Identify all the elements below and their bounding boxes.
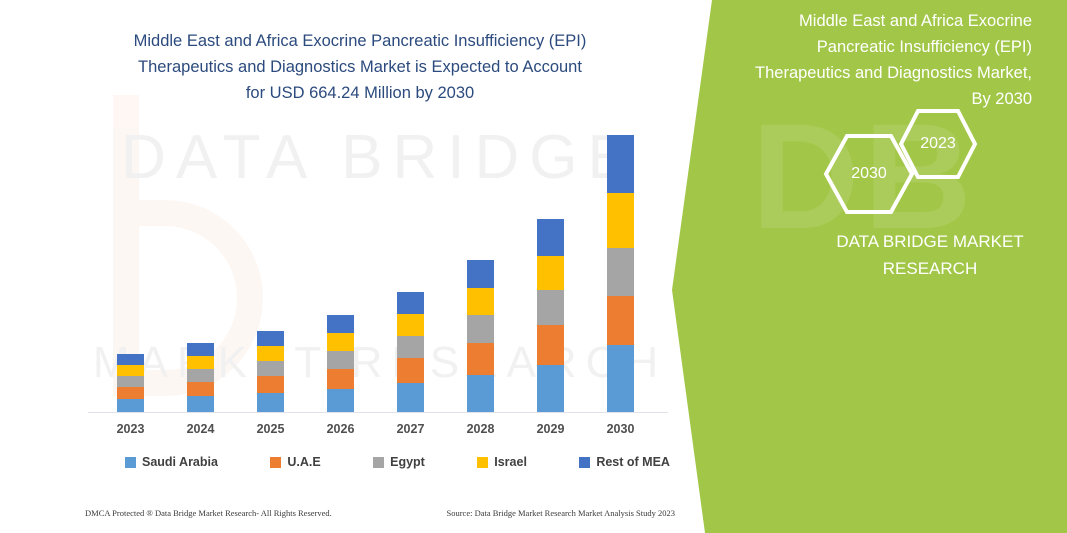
- chart-legend: Saudi ArabiaU.A.EEgyptIsraelRest of MEA: [125, 455, 670, 469]
- bar-segment-saudiarabia: [397, 383, 424, 412]
- legend-swatch-icon: [579, 457, 590, 468]
- legend-label: Rest of MEA: [596, 455, 670, 469]
- bar-segment-egypt: [607, 248, 634, 296]
- bar-stack-2024: [187, 343, 214, 412]
- x-axis-line: [88, 412, 668, 413]
- brand-line-1: DATA BRIDGE MARKET: [805, 228, 1055, 255]
- bar-segment-israel: [607, 193, 634, 248]
- bar-segment-israel: [397, 314, 424, 336]
- bar-segment-restofmea: [397, 292, 424, 314]
- x-axis-label-2025: 2025: [236, 422, 306, 436]
- hexagon-2023-label: 2023: [920, 135, 956, 153]
- legend-item-restofmea[interactable]: Rest of MEA: [579, 455, 670, 469]
- bar-segment-egypt: [467, 315, 494, 343]
- infographic-canvas: DATA BRIDGE MARKET RESEARCH Middle East …: [0, 0, 1067, 533]
- bar-segment-saudiarabia: [327, 389, 354, 412]
- legend-item-israel[interactable]: Israel: [477, 455, 527, 469]
- legend-label: Israel: [494, 455, 527, 469]
- bar-segment-israel: [187, 356, 214, 369]
- footer-source: Source: Data Bridge Market Research Mark…: [446, 508, 675, 518]
- bar-segment-restofmea: [117, 354, 144, 365]
- legend-swatch-icon: [477, 457, 488, 468]
- bar-stack-2027: [397, 292, 424, 412]
- bar-segment-israel: [537, 256, 564, 290]
- legend-label: Saudi Arabia: [142, 455, 218, 469]
- bar-segment-uae: [117, 387, 144, 399]
- legend-item-egypt[interactable]: Egypt: [373, 455, 425, 469]
- bar-segment-restofmea: [257, 331, 284, 346]
- hexagon-2030-label: 2030: [851, 165, 887, 183]
- bar-segment-uae: [257, 376, 284, 393]
- bar-segment-saudiarabia: [607, 345, 634, 412]
- bar-segment-restofmea: [467, 260, 494, 288]
- bar-segment-israel: [117, 365, 144, 376]
- legend-swatch-icon: [373, 457, 384, 468]
- bar-segment-egypt: [257, 361, 284, 376]
- bar-segment-egypt: [187, 369, 214, 382]
- footer: DMCA Protected ® Data Bridge Market Rese…: [85, 508, 675, 518]
- footer-copyright: DMCA Protected ® Data Bridge Market Rese…: [85, 508, 332, 518]
- brand-line-2: RESEARCH: [805, 255, 1055, 282]
- bar-segment-saudiarabia: [257, 393, 284, 412]
- x-axis-label-2023: 2023: [96, 422, 166, 436]
- bar-segment-uae: [327, 369, 354, 389]
- bar-segment-saudiarabia: [187, 396, 214, 412]
- bar-segment-restofmea: [187, 343, 214, 356]
- bar-segment-uae: [607, 296, 634, 345]
- bar-stack-2030: [607, 135, 634, 412]
- bar-segment-egypt: [117, 376, 144, 387]
- bar-segment-egypt: [327, 351, 354, 369]
- bar-segment-uae: [467, 343, 494, 375]
- legend-item-saudiarabia[interactable]: Saudi Arabia: [125, 455, 218, 469]
- legend-item-uae[interactable]: U.A.E: [270, 455, 320, 469]
- legend-swatch-icon: [270, 457, 281, 468]
- bar-segment-saudiarabia: [467, 375, 494, 412]
- bar-segment-israel: [327, 333, 354, 351]
- right-green-panel: DB Middle East and Africa Exocrine Pancr…: [660, 0, 1067, 533]
- bar-segment-restofmea: [537, 219, 564, 256]
- x-axis-label-2028: 2028: [446, 422, 516, 436]
- bar-segment-egypt: [397, 336, 424, 358]
- bar-segment-restofmea: [327, 315, 354, 333]
- bar-segment-saudiarabia: [537, 365, 564, 412]
- bar-segment-restofmea: [607, 135, 634, 193]
- hexagon-2030: 2030: [823, 133, 915, 215]
- brand-name: DATA BRIDGE MARKET RESEARCH: [805, 228, 1055, 282]
- bar-segment-uae: [537, 325, 564, 365]
- bar-stack-2028: [467, 260, 494, 412]
- x-axis-label-2030: 2030: [586, 422, 656, 436]
- bar-stack-2023: [117, 354, 144, 412]
- bar-stack-2026: [327, 315, 354, 412]
- stacked-bar-chart: 20232024202520262027202820292030: [0, 0, 700, 533]
- bar-stack-2025: [257, 331, 284, 412]
- bar-segment-uae: [187, 382, 214, 396]
- bar-segment-israel: [467, 288, 494, 315]
- x-axis-label-2029: 2029: [516, 422, 586, 436]
- bar-segment-egypt: [537, 290, 564, 325]
- legend-label: Egypt: [390, 455, 425, 469]
- bar-segment-saudiarabia: [117, 399, 144, 412]
- bar-segment-israel: [257, 346, 284, 361]
- bar-stack-2029: [537, 219, 564, 412]
- x-axis-label-2027: 2027: [376, 422, 446, 436]
- x-axis-label-2024: 2024: [166, 422, 236, 436]
- bar-segment-uae: [397, 358, 424, 383]
- legend-label: U.A.E: [287, 455, 320, 469]
- x-axis-label-2026: 2026: [306, 422, 376, 436]
- legend-swatch-icon: [125, 457, 136, 468]
